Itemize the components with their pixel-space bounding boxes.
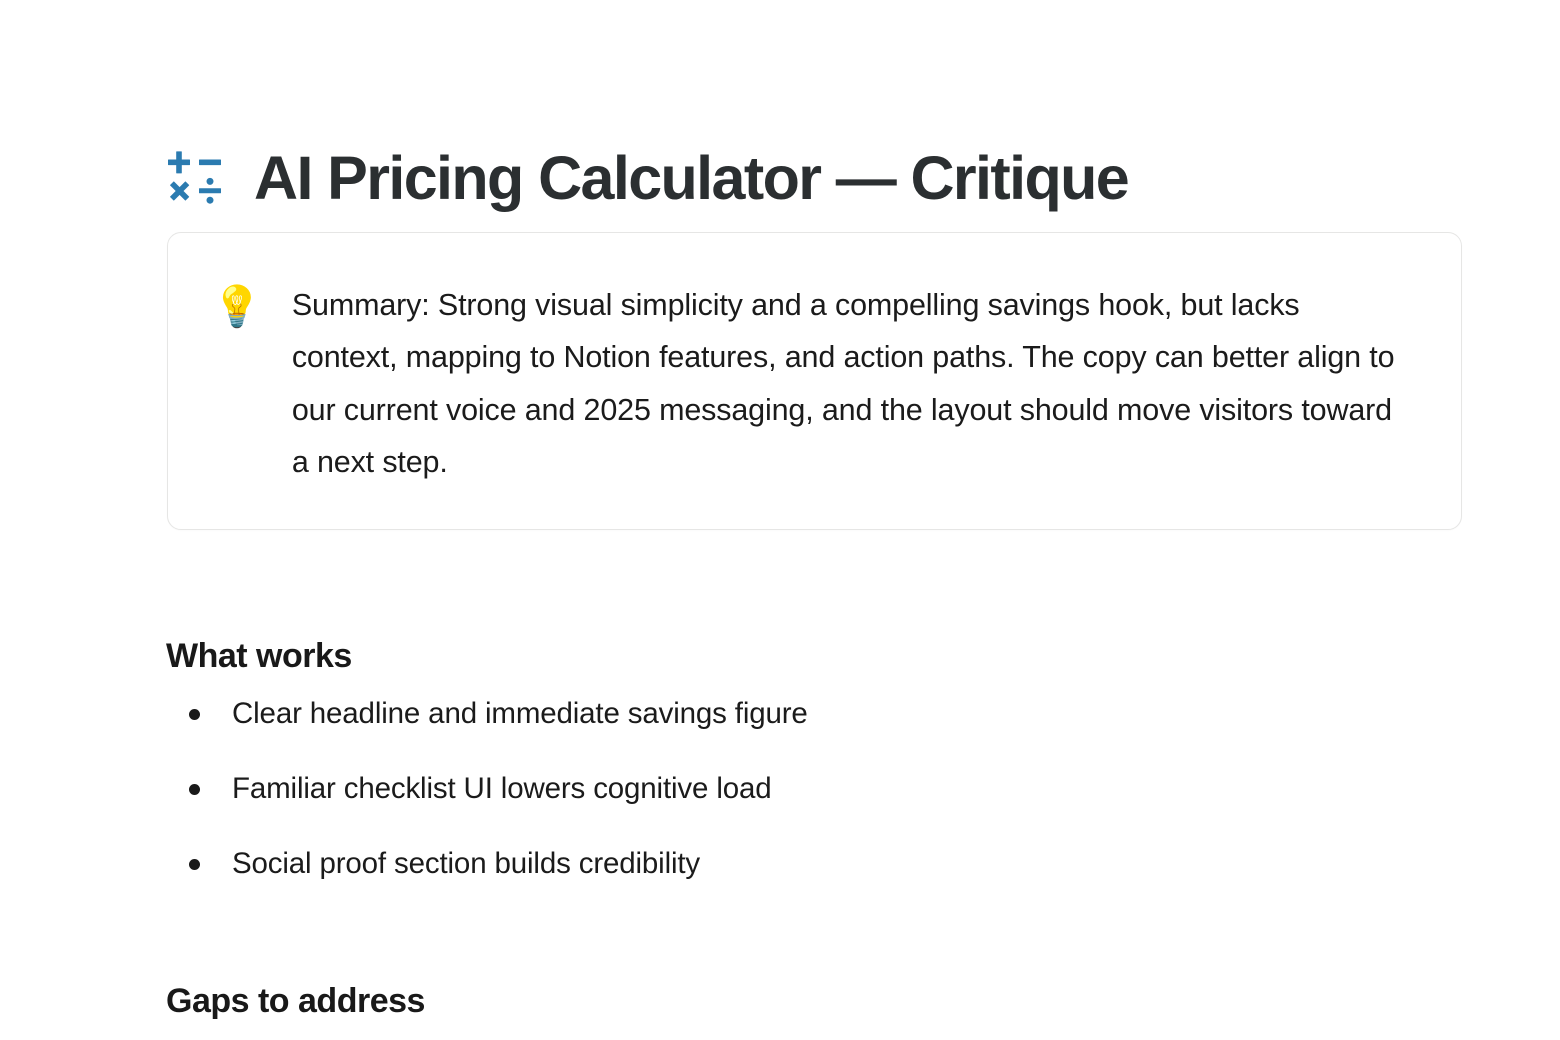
summary-callout-text: Summary: Strong visual simplicity and a … xyxy=(292,279,1412,489)
list-item[interactable]: Familiar checklist UI lowers cognitive l… xyxy=(166,770,1366,808)
section-heading-gaps-to-address[interactable]: Gaps to address xyxy=(166,979,425,1023)
list-item[interactable]: Clear headline and immediate savings fig… xyxy=(166,695,1366,733)
summary-callout[interactable]: 💡 Summary: Strong visual simplicity and … xyxy=(167,232,1462,530)
section-heading-what-works[interactable]: What works xyxy=(166,634,352,678)
page-title-row: AI Pricing Calculator — Critique xyxy=(166,104,1466,253)
light-bulb-icon: 💡 xyxy=(212,287,262,327)
document-page: AI Pricing Calculator — Critique 💡 Summa… xyxy=(0,0,1560,1040)
page-title[interactable]: AI Pricing Calculator — Critique xyxy=(254,145,1128,212)
math-symbols-icon[interactable] xyxy=(166,148,226,208)
list-item[interactable]: Social proof section builds credibility xyxy=(166,845,1366,883)
what-works-bullet-list: Clear headline and immediate savings fig… xyxy=(166,695,1366,882)
